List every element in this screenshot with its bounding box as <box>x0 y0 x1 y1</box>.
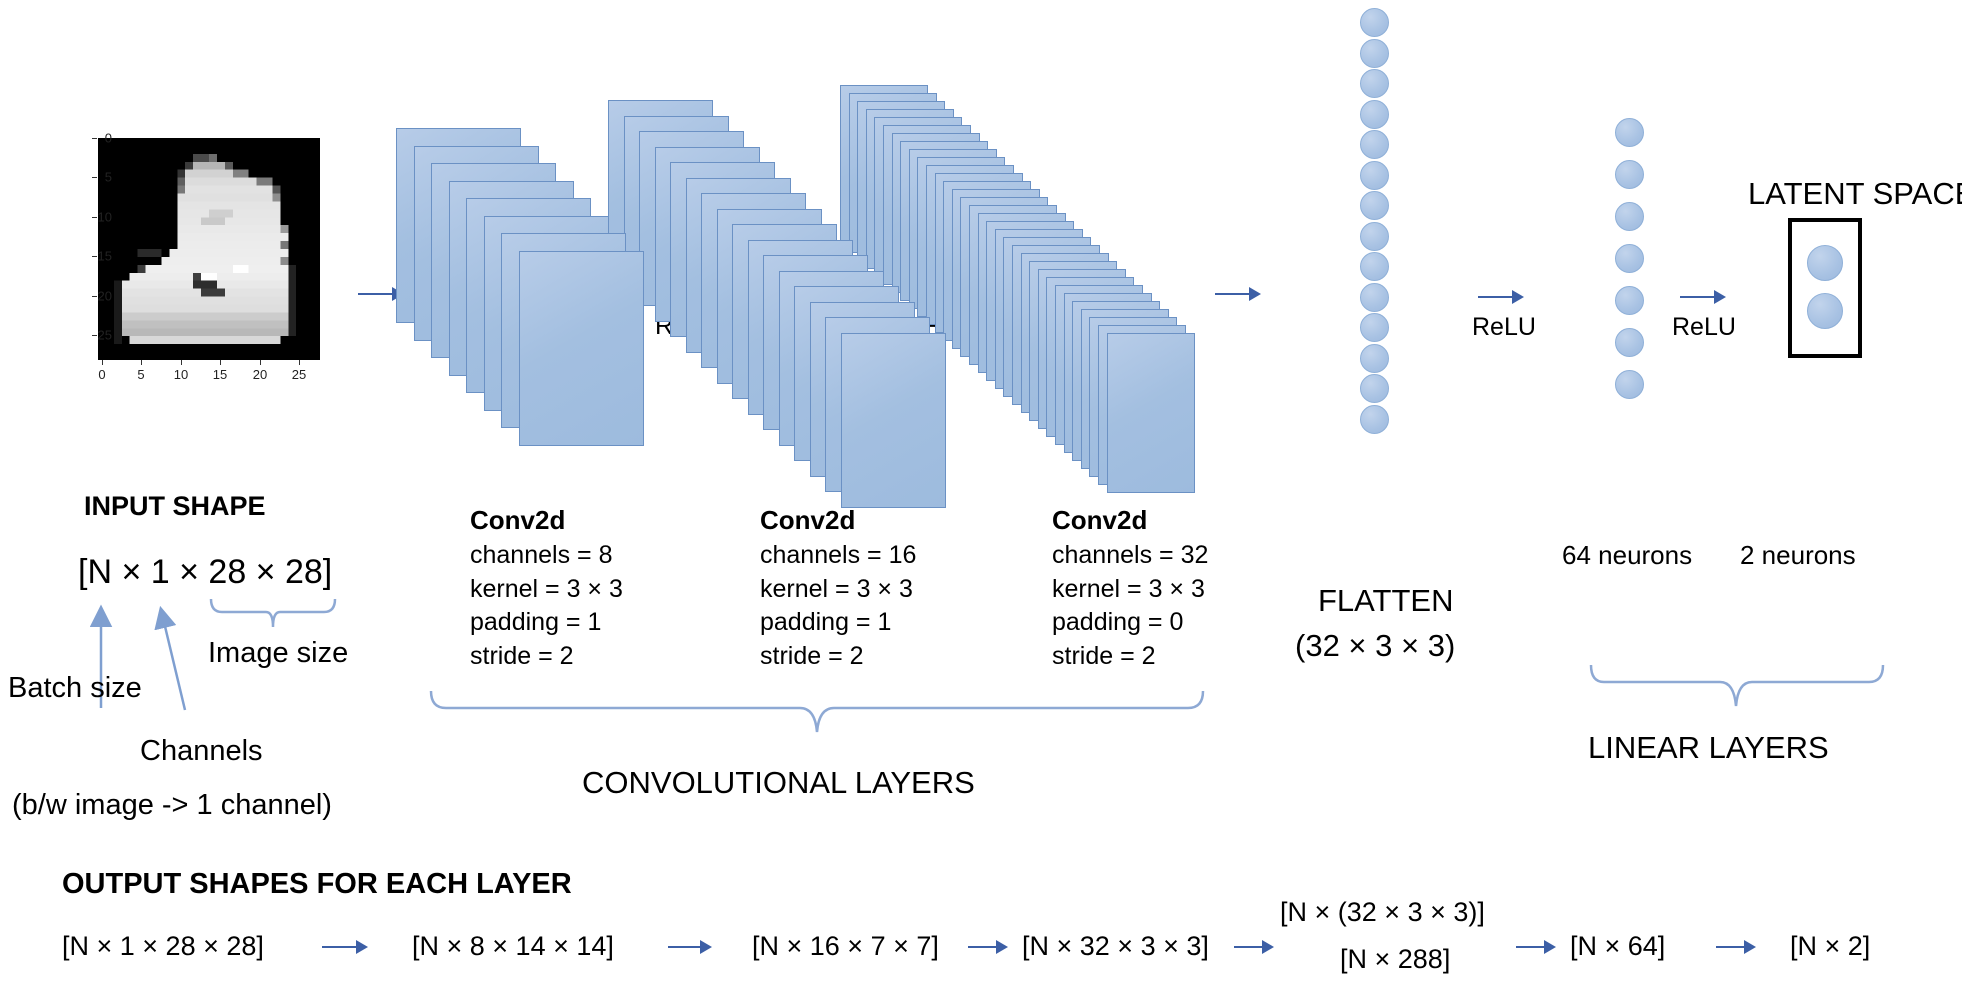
conv-kernel: kernel = 3 × 3 <box>760 573 916 607</box>
x-tick-label: 10 <box>174 367 188 382</box>
output-shape-item: [N × 2] <box>1790 931 1870 962</box>
conv-block-title: Conv2d <box>1052 505 1208 536</box>
convolutional-layers-brace <box>428 688 1208 736</box>
feature-map-plane <box>841 333 946 508</box>
conv-kernel: kernel = 3 × 3 <box>1052 573 1208 607</box>
arrow-head <box>356 940 368 954</box>
arrow-shaft <box>1215 293 1249 295</box>
arrow-output-3 <box>968 938 1008 956</box>
latent-space-box <box>1788 218 1862 358</box>
conv-block-2-details: Conv2d channels = 16 kernel = 3 × 3 padd… <box>760 505 916 673</box>
input-image-plot: 0 5 10 15 20 25 0 5 10 15 20 25 <box>60 133 340 418</box>
arrow-shaft <box>322 946 356 948</box>
x-tick-label: 25 <box>292 367 306 382</box>
y-tick-mark <box>92 335 97 336</box>
conv-padding: padding = 1 <box>760 606 916 640</box>
arrow-conv3-to-flatten <box>1215 285 1261 303</box>
output-shape-item-flatten-alt: [N × 288] <box>1340 944 1450 975</box>
arrow-head <box>1262 940 1274 954</box>
neuron <box>1615 328 1644 357</box>
conv-block-title: Conv2d <box>760 505 916 536</box>
output-shape-item-flatten: [N × (32 × 3 × 3)] <box>1280 897 1485 928</box>
arrow-head <box>700 940 712 954</box>
latent-neuron-count-label: 2 neurons <box>1740 540 1856 571</box>
output-shape-item: [N × 64] <box>1570 931 1665 962</box>
neuron <box>1360 313 1389 342</box>
x-tick-mark <box>220 360 221 365</box>
arrow-head <box>1744 940 1756 954</box>
arrow-output-2 <box>668 938 712 956</box>
channels-note-label: (b/w image -> 1 channel) <box>12 789 332 822</box>
conv-channels: channels = 16 <box>760 539 916 573</box>
conv-stride: stride = 2 <box>760 640 916 674</box>
arrow-flatten-relu <box>1478 288 1524 306</box>
flatten-neuron-column <box>1360 8 1400 418</box>
output-shape-item: [N × 1 × 28 × 28] <box>62 931 264 962</box>
x-tick-label: 20 <box>253 367 267 382</box>
neuron <box>1615 202 1644 231</box>
conv-channels: channels = 32 <box>1052 539 1208 573</box>
channels-label: Channels <box>140 735 263 768</box>
input-shape-value: [N × 1 × 28 × 28] <box>78 553 332 592</box>
y-tick-mark <box>92 177 97 178</box>
neuron <box>1360 191 1389 220</box>
flatten-shape: (32 × 3 × 3) <box>1295 628 1455 664</box>
y-tick-mark <box>92 138 97 139</box>
latent-neuron <box>1807 293 1843 329</box>
arrow-head <box>996 940 1008 954</box>
arrow-head <box>1249 287 1261 301</box>
arrow-head <box>1512 290 1524 304</box>
convolutional-layers-label: CONVOLUTIONAL LAYERS <box>582 765 975 801</box>
arrow-shaft <box>358 293 392 295</box>
arrow-shaft <box>968 946 996 948</box>
arrow-output-6 <box>1716 938 1756 956</box>
conv-channels: channels = 8 <box>470 539 623 573</box>
conv-block-3-details: Conv2d channels = 32 kernel = 3 × 3 padd… <box>1052 505 1208 673</box>
y-tick-mark <box>92 256 97 257</box>
arrow-head <box>1714 290 1726 304</box>
linear-layers-label: LINEAR LAYERS <box>1588 730 1829 766</box>
x-tick-mark <box>141 360 142 365</box>
neuron <box>1360 161 1389 190</box>
y-tick-mark <box>92 217 97 218</box>
linear-layers-brace <box>1588 662 1888 710</box>
conv-stride: stride = 2 <box>1052 640 1208 674</box>
neuron <box>1615 286 1644 315</box>
conv-block-1-details: Conv2d channels = 8 kernel = 3 × 3 paddi… <box>470 505 623 673</box>
neuron <box>1360 39 1389 68</box>
image-size-brace <box>208 596 338 630</box>
x-tick-mark <box>102 360 103 365</box>
relu-label-4: ReLU <box>1672 313 1736 342</box>
latent-neuron <box>1807 245 1843 281</box>
ankle-boot-pixels <box>98 138 320 360</box>
neuron <box>1615 370 1644 399</box>
neuron <box>1360 8 1389 37</box>
x-tick-mark <box>260 360 261 365</box>
arrow-shaft <box>668 946 700 948</box>
neuron <box>1615 118 1644 147</box>
arrow-shaft <box>1716 946 1744 948</box>
neuron <box>1360 222 1389 251</box>
diagram-canvas: 0 5 10 15 20 25 0 5 10 15 20 25 ReLU <box>0 0 1962 994</box>
neuron <box>1360 344 1389 373</box>
output-shapes-heading: OUTPUT SHAPES FOR EACH LAYER <box>62 868 572 901</box>
arrow-shaft <box>1680 296 1714 298</box>
arrow-shaft <box>1234 946 1262 948</box>
neuron <box>1360 405 1389 434</box>
neuron <box>1615 244 1644 273</box>
latent-space-label: LATENT SPACE <box>1748 176 1962 212</box>
neuron <box>1615 160 1644 189</box>
image-size-label: Image size <box>208 637 348 670</box>
feature-map-plane <box>1107 333 1195 493</box>
x-tick-label: 15 <box>213 367 227 382</box>
y-tick-mark <box>92 296 97 297</box>
x-tick-label: 0 <box>98 367 105 382</box>
batch-size-label: Batch size <box>8 672 142 705</box>
arrow-output-5 <box>1516 938 1556 956</box>
conv-block-title: Conv2d <box>470 505 623 536</box>
conv-kernel: kernel = 3 × 3 <box>470 573 623 607</box>
neuron <box>1360 100 1389 129</box>
conv-stride: stride = 2 <box>470 640 623 674</box>
output-shape-item: [N × 16 × 7 × 7] <box>752 931 939 962</box>
feature-map-plane <box>519 251 644 446</box>
x-tick-mark <box>299 360 300 365</box>
hidden-neuron-column <box>1615 118 1655 368</box>
neuron <box>1360 283 1389 312</box>
relu-label-3: ReLU <box>1472 313 1536 342</box>
x-tick-label: 5 <box>137 367 144 382</box>
arrow-output-4 <box>1234 938 1274 956</box>
arrow-output-1 <box>322 938 368 956</box>
flatten-label: FLATTEN <box>1318 583 1454 619</box>
arrow-shaft <box>1478 296 1512 298</box>
neuron <box>1360 130 1389 159</box>
arrow-head <box>1544 940 1556 954</box>
x-tick-mark <box>181 360 182 365</box>
conv-padding: padding = 0 <box>1052 606 1208 640</box>
fashion-mnist-image <box>98 138 320 360</box>
conv-padding: padding = 1 <box>470 606 623 640</box>
neuron <box>1360 374 1389 403</box>
neuron <box>1360 252 1389 281</box>
arrow-shaft <box>1516 946 1544 948</box>
output-shape-item: [N × 8 × 14 × 14] <box>412 931 614 962</box>
output-shape-item: [N × 32 × 3 × 3] <box>1022 931 1209 962</box>
hidden-neuron-count-label: 64 neurons <box>1562 540 1692 571</box>
input-shape-heading: INPUT SHAPE <box>84 491 266 522</box>
neuron <box>1360 69 1389 98</box>
arrow-hidden-relu <box>1680 288 1726 306</box>
